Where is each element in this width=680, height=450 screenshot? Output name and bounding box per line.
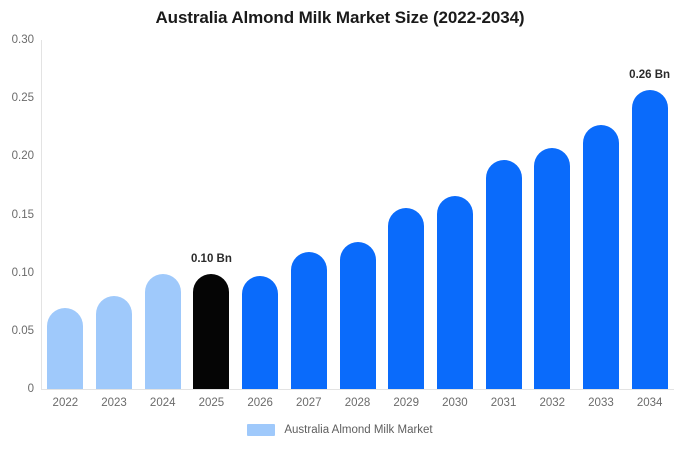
x-axis-tick-2032: 2032	[528, 397, 577, 409]
x-axis-tick-2029: 2029	[382, 397, 431, 409]
x-axis-tick-2023: 2023	[90, 397, 139, 409]
bar-2030[interactable]	[437, 196, 473, 389]
bar-2032[interactable]	[534, 148, 570, 389]
chart-legend: Australia Almond Milk Market	[0, 424, 680, 436]
bar-2023[interactable]	[96, 296, 132, 389]
bar-2034[interactable]	[632, 90, 668, 389]
y-axis-tick: 0.10	[12, 267, 34, 279]
bar-2028[interactable]	[340, 242, 376, 389]
bar-slot	[340, 40, 376, 389]
bar-2031[interactable]	[486, 160, 522, 389]
bar-2029[interactable]	[388, 208, 424, 389]
bar-slot	[583, 40, 619, 389]
x-axis-tick-2024: 2024	[138, 397, 187, 409]
bar-2033[interactable]	[583, 125, 619, 389]
bar-slot	[47, 40, 83, 389]
x-axis-tick-2034: 2034	[625, 397, 674, 409]
bar-2024[interactable]	[145, 274, 181, 389]
y-axis-tick: 0	[28, 383, 34, 395]
x-axis-tick-2033: 2033	[577, 397, 626, 409]
bar-slot	[486, 40, 522, 389]
legend-swatch-0	[247, 424, 275, 436]
x-axis-line	[41, 389, 674, 390]
x-axis-tick-2031: 2031	[479, 397, 528, 409]
bar-slot	[145, 40, 181, 389]
bar-value-label-2034: 0.26 Bn	[629, 69, 670, 81]
chart-title: Australia Almond Milk Market Size (2022-…	[0, 8, 680, 28]
y-axis-line	[41, 40, 42, 389]
chart-container: Australia Almond Milk Market Size (2022-…	[0, 0, 680, 450]
y-axis-tick: 0.05	[12, 325, 34, 337]
bar-slot	[534, 40, 570, 389]
x-axis-tick-2030: 2030	[431, 397, 480, 409]
bar-2025[interactable]	[193, 274, 229, 389]
y-axis-tick: 0.15	[12, 209, 34, 221]
y-axis-tick: 0.20	[12, 150, 34, 162]
x-axis-tick-2025: 2025	[187, 397, 236, 409]
bar-slot: 0.10 Bn	[193, 40, 229, 389]
bar-slot	[388, 40, 424, 389]
bar-2027[interactable]	[291, 252, 327, 389]
legend-label-0[interactable]: Australia Almond Milk Market	[284, 424, 432, 436]
plot-area: 0.300.250.200.150.100.050 0.10 Bn0.26 Bn…	[41, 40, 674, 389]
bar-value-label-2025: 0.10 Bn	[191, 253, 232, 265]
bar-slot	[437, 40, 473, 389]
y-axis-tick: 0.25	[12, 92, 34, 104]
bar-2022[interactable]	[47, 308, 83, 389]
bar-2026[interactable]	[242, 276, 278, 389]
bar-slot	[242, 40, 278, 389]
x-axis-tick-2026: 2026	[236, 397, 285, 409]
bar-slot	[291, 40, 327, 389]
x-axis-tick-2027: 2027	[284, 397, 333, 409]
x-axis-tick-2022: 2022	[41, 397, 90, 409]
y-axis-tick: 0.30	[12, 34, 34, 46]
bar-slot	[96, 40, 132, 389]
x-axis-tick-2028: 2028	[333, 397, 382, 409]
bar-slot: 0.26 Bn	[632, 40, 668, 389]
